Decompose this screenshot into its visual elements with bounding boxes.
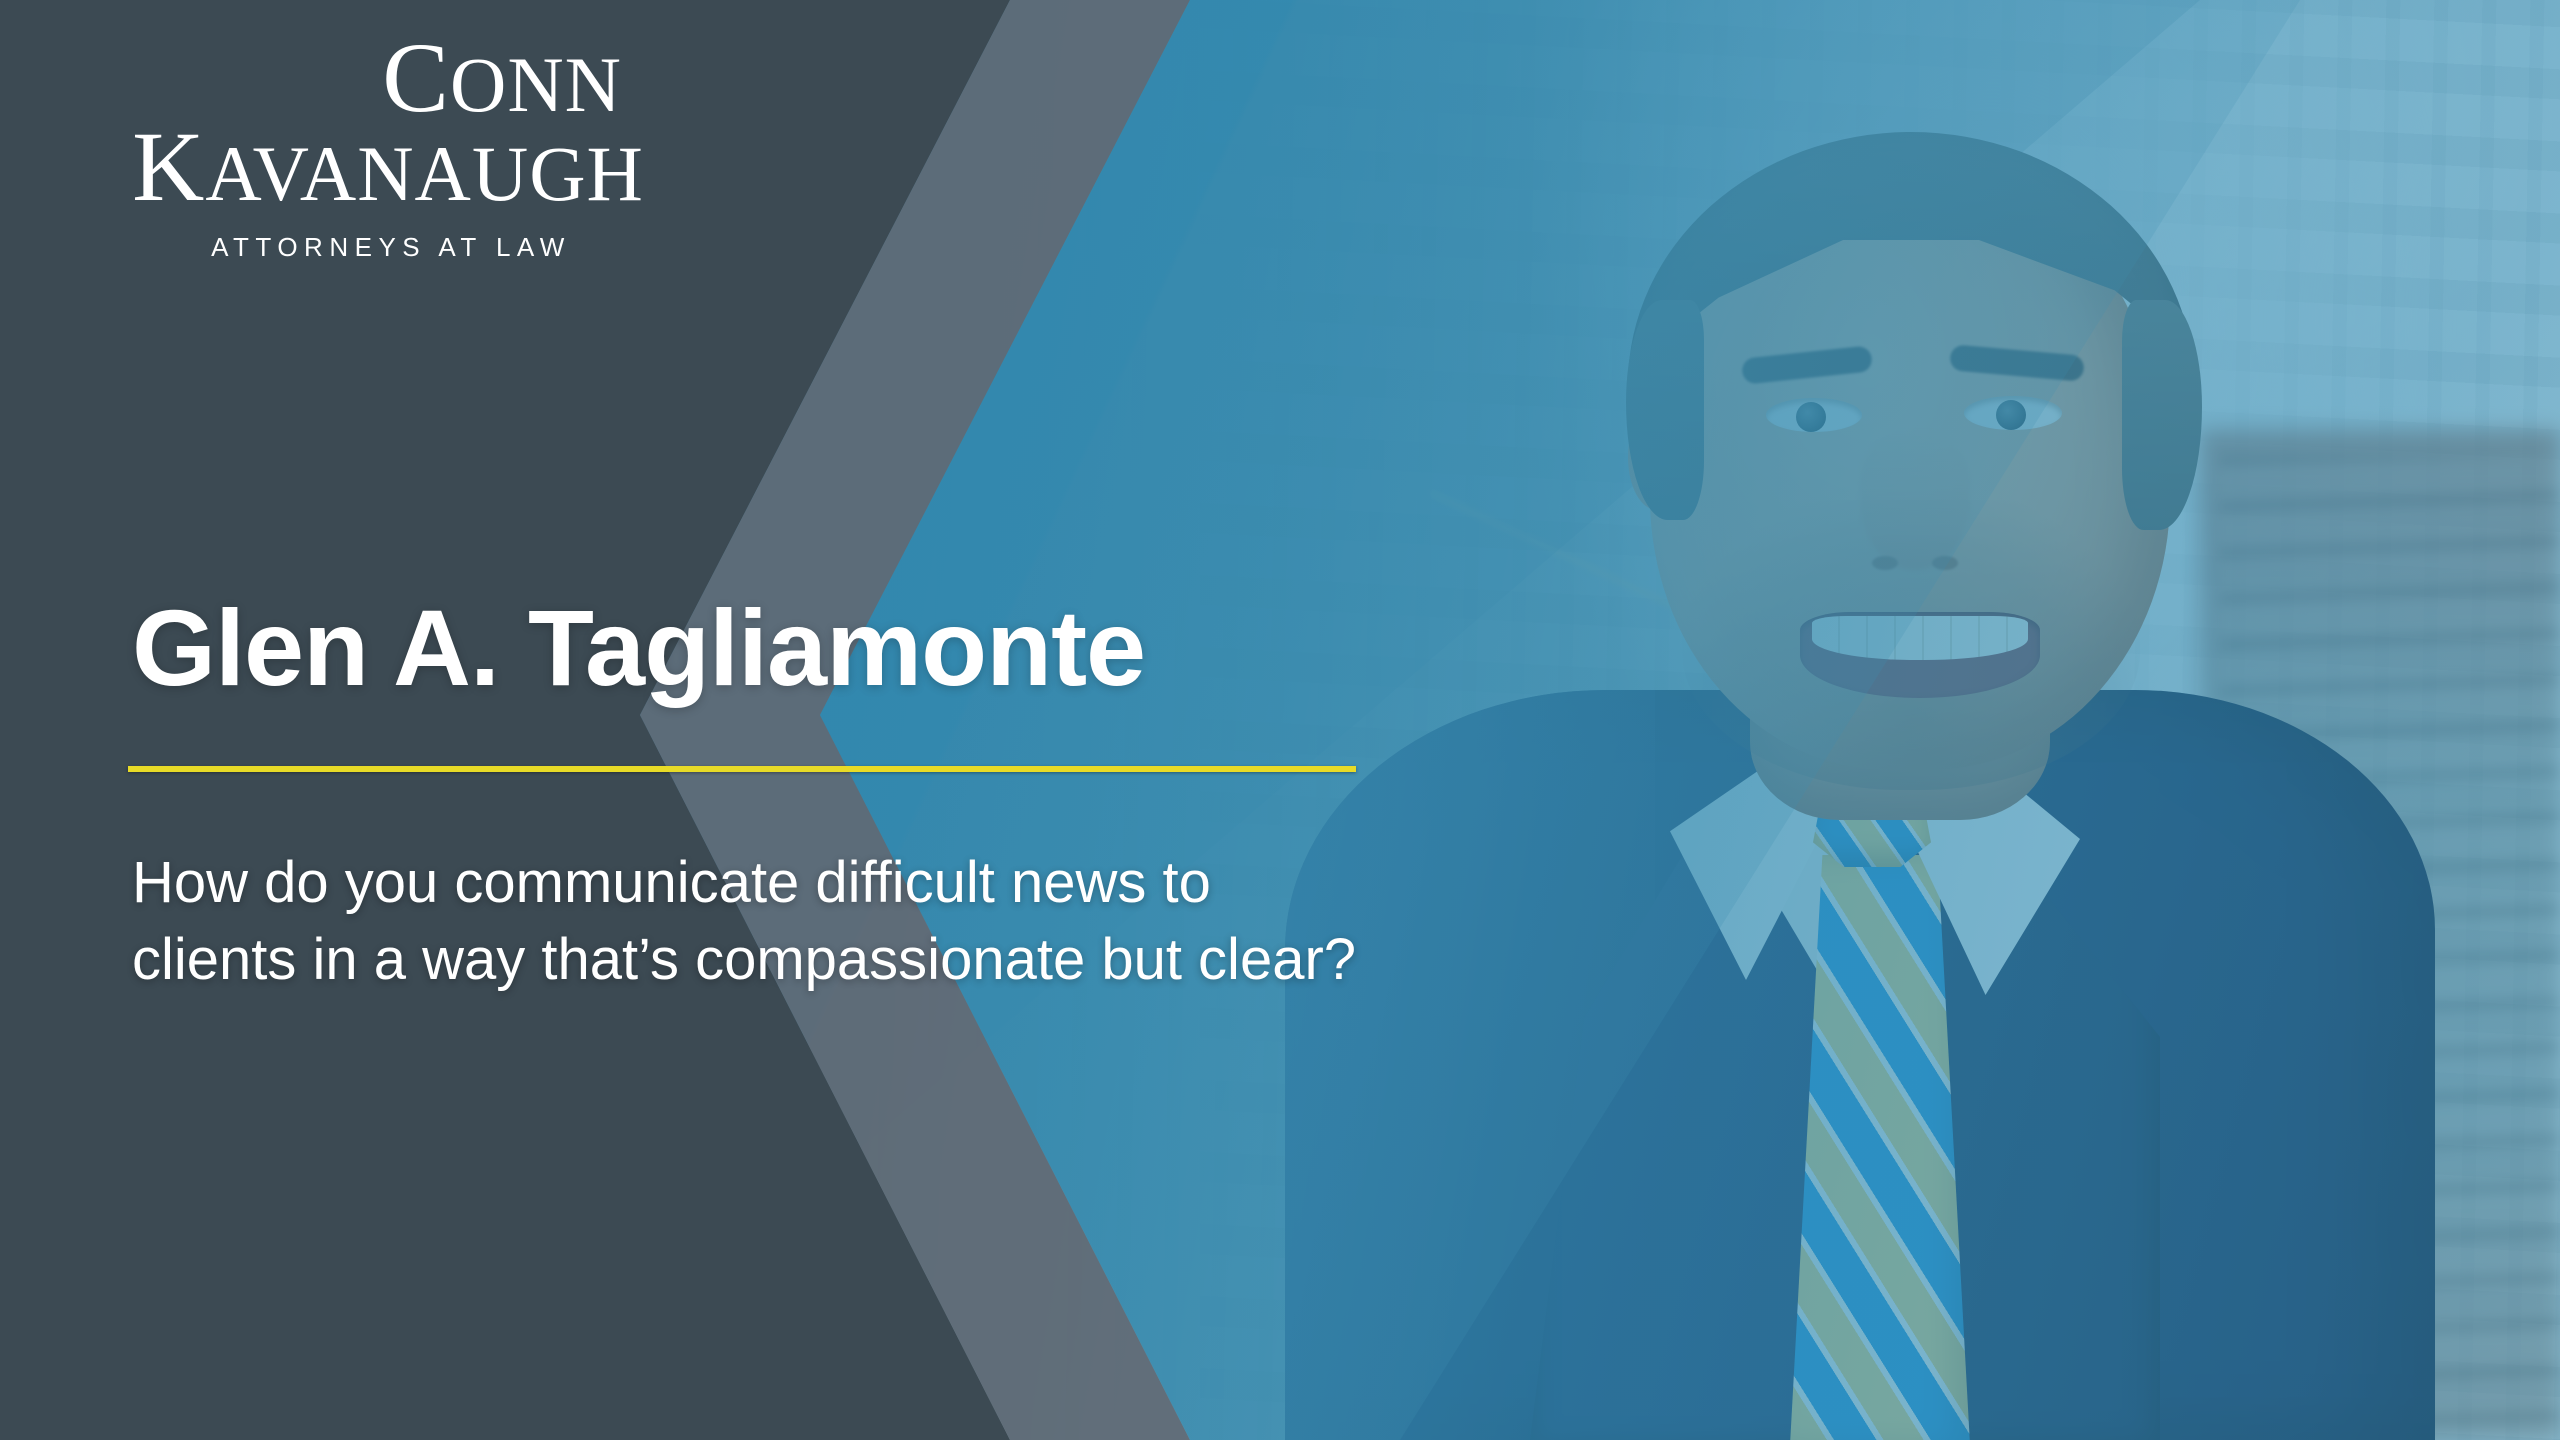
question-line-2: clients in a way that’s compassionate bu…: [132, 922, 1462, 999]
promo-card: CONN KAVANAUGH ATTORNEYS AT LAW Glen A. …: [0, 0, 2560, 1440]
logo-conn-rest: ONN: [450, 41, 622, 128]
logo-tagline: ATTORNEYS AT LAW: [108, 232, 668, 263]
attorney-name: Glen A. Tagliamonte: [132, 594, 1145, 702]
logo-conn-cap: C: [382, 22, 450, 133]
logo-kavanaugh-rest: AVANAUGH: [205, 130, 644, 217]
brand-logo[interactable]: CONN KAVANAUGH ATTORNEYS AT LAW: [108, 30, 668, 263]
question-line-1: How do you communicate difficult news to: [132, 850, 1211, 915]
logo-word-kavanaugh: KAVANAUGH: [108, 119, 668, 214]
logo-kavanaugh-cap: K: [132, 111, 205, 222]
accent-underline: [128, 766, 1356, 772]
question-text: How do you communicate difficult news to…: [132, 845, 1462, 998]
